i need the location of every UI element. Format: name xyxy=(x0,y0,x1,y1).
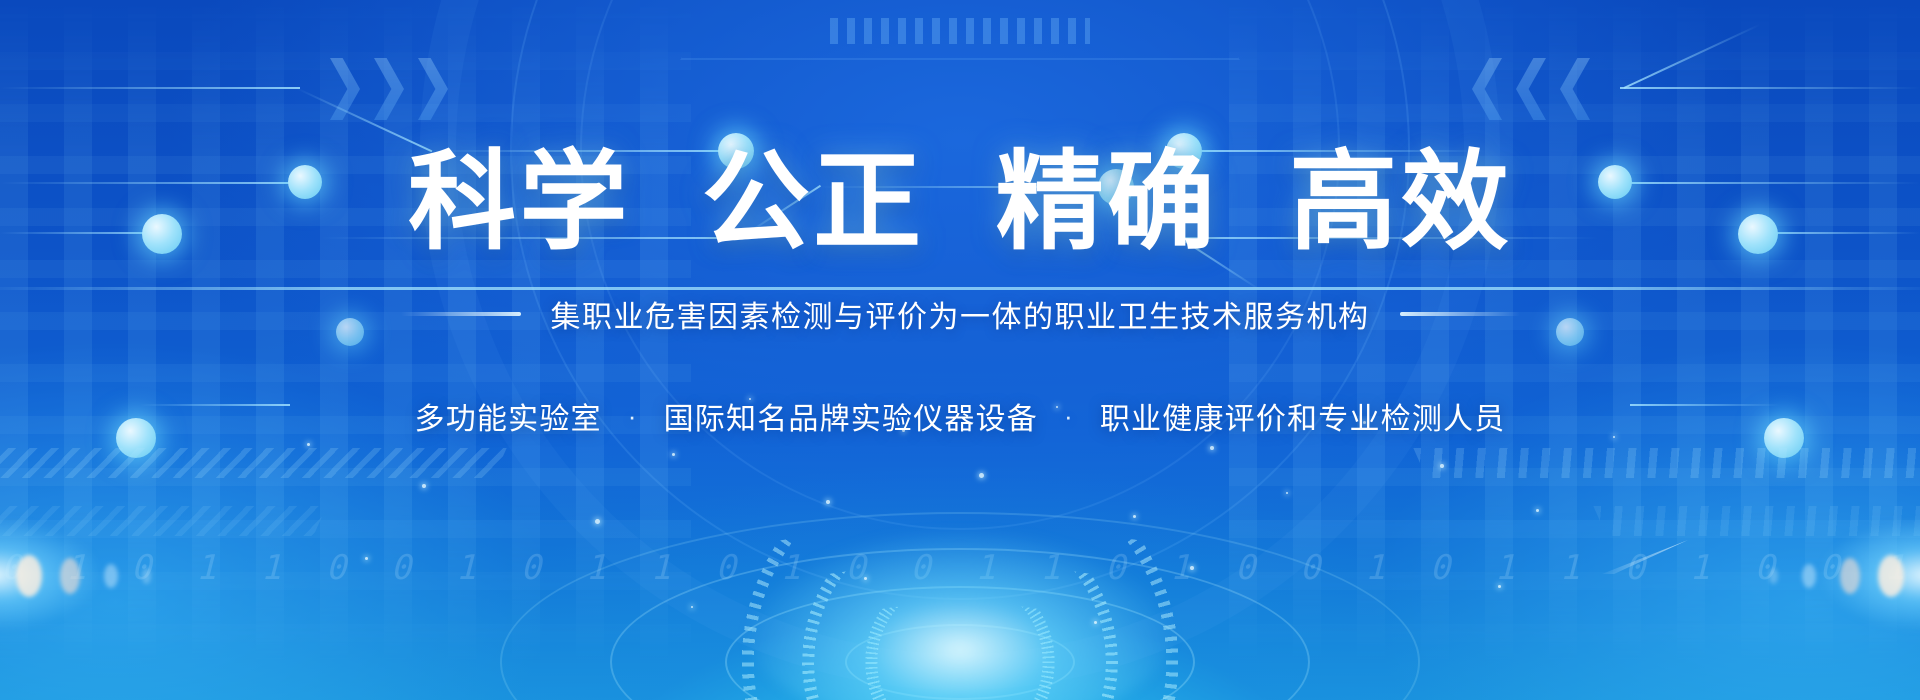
subtitle-rule-left-icon xyxy=(401,312,521,316)
feature-item-3: 职业健康评价和专业检测人员 xyxy=(1100,394,1506,438)
promo-banner: 0 1 0 1 1 0 0 1 0 1 1 0 1 0 0 1 1 0 1 0 … xyxy=(0,0,1920,700)
feature-item-2: 国际知名品牌实验仪器设备 xyxy=(664,394,1038,438)
feature-separator-icon: · xyxy=(1064,403,1074,429)
banner-subtitle-row: 集职业危害因素检测与评价为一体的职业卫生技术服务机构 xyxy=(401,292,1520,336)
banner-headline: 科学 公正 精确 高效 xyxy=(408,148,1512,256)
feature-item-1: 多功能实验室 xyxy=(415,394,602,438)
banner-subtitle: 集职业危害因素检测与评价为一体的职业卫生技术服务机构 xyxy=(551,292,1370,336)
banner-content: 科学 公正 精确 高效 集职业危害因素检测与评价为一体的职业卫生技术服务机构 多… xyxy=(0,0,1920,700)
subtitle-rule-right-icon xyxy=(1400,312,1520,316)
feature-separator-icon: · xyxy=(628,403,638,429)
banner-feature-list: 多功能实验室 · 国际知名品牌实验仪器设备 · 职业健康评价和专业检测人员 xyxy=(415,394,1506,438)
